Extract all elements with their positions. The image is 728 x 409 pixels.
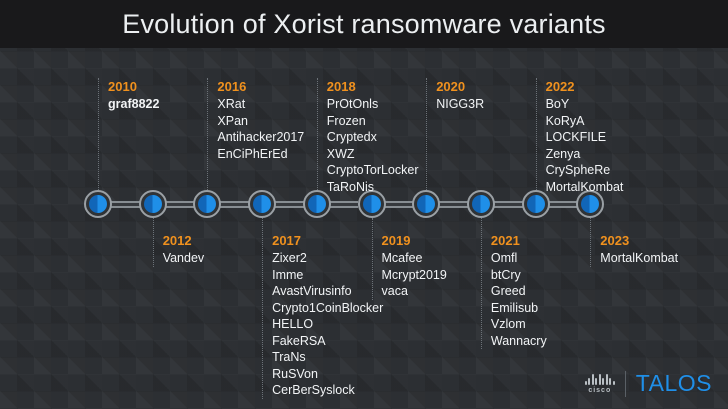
timeline-entry-2017: 2017Zixer2ImmeAvastVirusinfoCrypto1CoinB…: [272, 232, 383, 399]
ransomware-variant: TraNs: [272, 349, 383, 366]
ransomware-variant: Frozen: [327, 113, 419, 130]
ransomware-variant: Mcafee: [382, 250, 447, 267]
ransomware-variant: MortalKombat: [546, 179, 624, 196]
ransomware-variant: Zenya: [546, 146, 624, 163]
ransomware-variant: Omfl: [491, 250, 547, 267]
timeline-node[interactable]: [248, 190, 276, 218]
timeline-entry-2016: 2016XRatXPanAntihacker2017EnCiPhErEd: [217, 78, 304, 162]
timeline-connector: [385, 201, 414, 208]
ransomware-variant: CryptoTorLocker: [327, 162, 419, 179]
ransomware-variant: FakeRSA: [272, 333, 383, 350]
timeline-stem: [262, 218, 263, 399]
timeline-connector: [439, 201, 468, 208]
ransomware-variant: Vzlom: [491, 316, 547, 333]
timeline-node-dot: [581, 195, 599, 213]
cisco-bars-icon: [585, 374, 615, 385]
timeline-stem: [481, 218, 482, 349]
timeline-entry-2022: 2022BoYKoRyALOCKFILEZenyaCrySpheReMortal…: [546, 78, 624, 195]
timeline-node[interactable]: [139, 190, 167, 218]
timeline-connector: [549, 201, 578, 208]
timeline-node[interactable]: [84, 190, 112, 218]
timeline-entry-year: 2010: [108, 78, 159, 95]
timeline-stem: [426, 78, 427, 190]
timeline-node[interactable]: [193, 190, 221, 218]
ransomware-variant: XRat: [217, 96, 304, 113]
ransomware-variant: vaca: [382, 283, 447, 300]
ransomware-variant: XPan: [217, 113, 304, 130]
ransomware-variant: Wannacry: [491, 333, 547, 350]
timeline-entry-year: 2020: [436, 78, 484, 95]
timeline-node-dot: [472, 195, 490, 213]
ransomware-variant: Emilisub: [491, 300, 547, 317]
timeline-node[interactable]: [467, 190, 495, 218]
page-title: Evolution of Xorist ransomware variants: [0, 0, 728, 48]
timeline-connector: [111, 201, 140, 208]
ransomware-variant: EnCiPhErEd: [217, 146, 304, 163]
ransomware-variant: Antihacker2017: [217, 129, 304, 146]
ransomware-variant: CerBerSyslock: [272, 382, 383, 399]
ransomware-variant: XWZ: [327, 146, 419, 163]
timeline-entry-year: 2012: [163, 232, 204, 249]
timeline-node-dot: [363, 195, 381, 213]
cisco-logo: cisco: [585, 374, 615, 394]
timeline-entry-2012: 2012Vandev: [163, 232, 204, 267]
timeline-entry-2023: 2023MortalKombat: [600, 232, 678, 267]
timeline-node-dot: [417, 195, 435, 213]
timeline-entry-year: 2023: [600, 232, 678, 249]
timeline-entry-2010: 2010graf8822: [108, 78, 159, 113]
ransomware-variant: NIGG3R: [436, 96, 484, 113]
timeline-entry-year: 2018: [327, 78, 419, 95]
timeline-connector: [220, 201, 249, 208]
slide-canvas: Evolution of Xorist ransomware variants …: [0, 0, 728, 409]
timeline-stem: [317, 78, 318, 190]
ransomware-variant: HELLO: [272, 316, 383, 333]
ransomware-variant: Greed: [491, 283, 547, 300]
ransomware-variant: Crypto1CoinBlocker: [272, 300, 383, 317]
logo-divider: [625, 371, 626, 397]
ransomware-variant: KoRyA: [546, 113, 624, 130]
ransomware-variant: Mcrypt2019: [382, 267, 447, 284]
cisco-wordmark: cisco: [588, 387, 611, 394]
ransomware-variant: TaRoNis: [327, 179, 419, 196]
timeline-entry-2018: 2018PrOtOnlsFrozenCryptedxXWZCryptoTorLo…: [327, 78, 419, 195]
title-bar: Evolution of Xorist ransomware variants: [0, 0, 728, 48]
ransomware-variant: graf8822: [108, 96, 159, 113]
ransomware-variant: Imme: [272, 267, 383, 284]
timeline-node-dot: [144, 195, 162, 213]
ransomware-variant: btCry: [491, 267, 547, 284]
timeline-node-dot: [89, 195, 107, 213]
timeline-connector: [330, 201, 359, 208]
timeline-entry-2021: 2021OmflbtCryGreedEmilisubVzlomWannacry: [491, 232, 547, 349]
timeline-stem: [536, 78, 537, 190]
ransomware-variant: MortalKombat: [600, 250, 678, 267]
ransomware-variant: RuSVon: [272, 366, 383, 383]
ransomware-variant: AvastVirusinfo: [272, 283, 383, 300]
timeline-entry-year: 2022: [546, 78, 624, 95]
ransomware-variant: PrOtOnls: [327, 96, 419, 113]
timeline: 2010graf88222012Vandev2016XRatXPanAntiha…: [0, 0, 728, 409]
cisco-talos-logo: cisco TALOS: [585, 370, 712, 397]
timeline-stem: [98, 78, 99, 190]
timeline-entry-year: 2017: [272, 232, 383, 249]
timeline-connector: [166, 201, 195, 208]
ransomware-variant: LOCKFILE: [546, 129, 624, 146]
timeline-stem: [207, 78, 208, 190]
ransomware-variant: CrySpheRe: [546, 162, 624, 179]
ransomware-variant: Zixer2: [272, 250, 383, 267]
ransomware-variant: Vandev: [163, 250, 204, 267]
timeline-entry-year: 2016: [217, 78, 304, 95]
timeline-node-dot: [527, 195, 545, 213]
talos-wordmark: TALOS: [636, 370, 712, 397]
ransomware-variant: Cryptedx: [327, 129, 419, 146]
timeline-entry-2019: 2019McafeeMcrypt2019vaca: [382, 232, 447, 300]
timeline-node-dot: [198, 195, 216, 213]
timeline-entry-year: 2021: [491, 232, 547, 249]
timeline-entry-year: 2019: [382, 232, 447, 249]
timeline-connector: [494, 201, 523, 208]
timeline-node-dot: [308, 195, 326, 213]
timeline-stem: [590, 218, 591, 267]
timeline-connector: [275, 201, 304, 208]
ransomware-variant: BoY: [546, 96, 624, 113]
timeline-stem: [153, 218, 154, 267]
timeline-node-dot: [253, 195, 271, 213]
timeline-entry-2020: 2020NIGG3R: [436, 78, 484, 113]
